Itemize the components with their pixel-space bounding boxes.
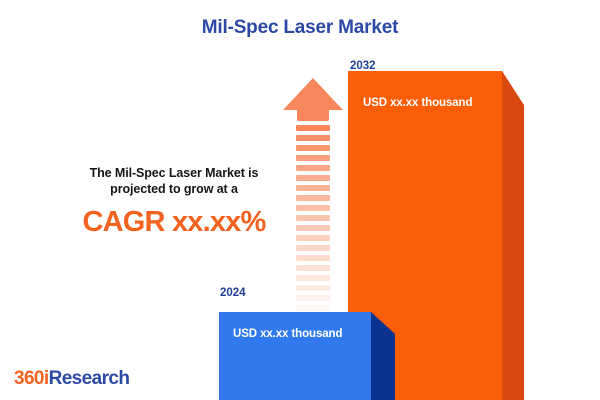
market-growth-infographic: Mil-Spec Laser Market The Mil-Spec Laser…: [0, 0, 600, 400]
logo-360i-text: 360i: [14, 368, 49, 389]
brand-logo: 360iResearch: [14, 368, 129, 390]
arrow-stripe: [296, 125, 330, 131]
bar-2032-side-face: [502, 71, 524, 400]
arrow-stripe: [296, 255, 330, 261]
bar-2024-front-face: [219, 312, 371, 400]
arrow-head-icon: [283, 78, 343, 111]
arrow-stripe: [296, 155, 330, 161]
bar-2024-year-label: 2024: [220, 287, 246, 299]
arrow-stripe: [296, 175, 330, 181]
arrow-triangle-icon: [283, 78, 343, 110]
growth-arrow-icon: [283, 78, 343, 300]
arrow-stripe: [296, 285, 330, 291]
statement-line-2: projected to grow at a: [58, 181, 290, 197]
arrow-stripe: [296, 145, 330, 151]
arrow-stripe: [296, 195, 330, 201]
cagr-value: CAGR xx.xx%: [58, 206, 290, 238]
arrow-stripe: [296, 265, 330, 271]
arrow-stripe: [296, 205, 330, 211]
arrow-stripe: [296, 295, 330, 301]
bar-2032-year-label: 2032: [350, 60, 376, 72]
growth-statement: The Mil-Spec Laser Market is projected t…: [58, 165, 290, 238]
page-title: Mil-Spec Laser Market: [0, 17, 600, 39]
logo-research-text: Research: [49, 368, 130, 389]
arrow-stripe: [296, 235, 330, 241]
arrow-stripe: [296, 215, 330, 221]
arrow-stripe: [296, 305, 330, 311]
bar-2032-value-label: USD xx.xx thousand: [363, 97, 472, 109]
arrow-stripe: [296, 165, 330, 171]
bar-2024: [219, 312, 371, 400]
arrow-stripe: [296, 275, 330, 281]
arrow-stripe: [296, 225, 330, 231]
bar-2024-value-label: USD xx.xx thousand: [233, 328, 342, 340]
statement-line-1: The Mil-Spec Laser Market is: [58, 165, 290, 181]
arrow-neck-icon: [297, 109, 329, 121]
arrow-stripe: [296, 135, 330, 141]
arrow-stripe: [296, 245, 330, 251]
arrow-stripe: [296, 185, 330, 191]
